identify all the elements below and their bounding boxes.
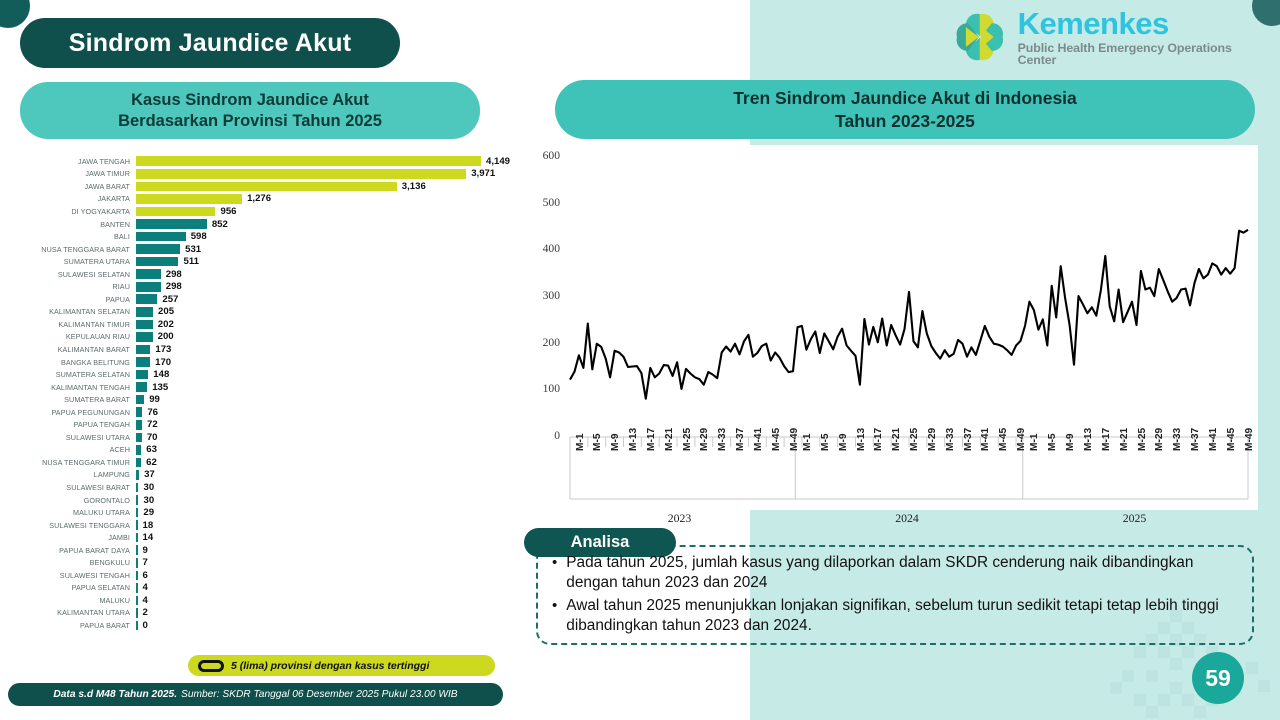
y-tick-label: 500 xyxy=(530,196,560,209)
x-tick-label: M-37 xyxy=(1190,428,1201,451)
trend-line-chart: 0100200300400500600M-1M-5M-9M-13M-17M-21… xyxy=(524,145,1258,510)
bar-value-label: 511 xyxy=(183,256,198,267)
bar-row: NUSA TENGGARA BARAT531 xyxy=(10,243,515,256)
bar-fill xyxy=(136,621,138,631)
bar-row: DI YOGYAKARTA956 xyxy=(10,205,515,218)
bar-category-label: JAWA TENGAH xyxy=(10,157,136,166)
bar-track: 14 xyxy=(136,531,515,544)
bar-row: KALIMANTAN TENGAH135 xyxy=(10,381,515,394)
x-tick-label: M-17 xyxy=(1101,428,1112,451)
bar-fill xyxy=(136,571,138,581)
bar-track: 4 xyxy=(136,594,515,607)
x-tick-label: M-29 xyxy=(1154,428,1165,451)
x-tick-label: M-45 xyxy=(998,428,1009,451)
bar-value-label: 29 xyxy=(143,507,154,518)
bar-track: 37 xyxy=(136,469,515,482)
bar-value-label: 30 xyxy=(143,482,154,493)
bar-fill xyxy=(136,320,153,330)
bar-value-label: 3,971 xyxy=(471,168,495,179)
line-chart-svg xyxy=(524,145,1258,510)
bar-row: SULAWESI UTARA70 xyxy=(10,431,515,444)
bar-fill xyxy=(136,207,215,217)
year-label: 2024 xyxy=(895,511,919,526)
bar-fill xyxy=(136,407,142,417)
footer-data-range: Data s.d M48 Tahun 2025. xyxy=(53,689,177,700)
legend-swatch-icon xyxy=(198,660,224,672)
bar-fill xyxy=(136,596,138,606)
bar-value-label: 173 xyxy=(155,344,171,355)
x-tick-label: M-25 xyxy=(1137,428,1148,451)
bar-fill xyxy=(136,495,138,505)
x-tick-label: M-33 xyxy=(1172,428,1183,451)
x-tick-label: M-13 xyxy=(628,428,639,451)
bar-category-label: NUSA TENGGARA TIMUR xyxy=(10,458,136,467)
bar-category-label: GORONTALO xyxy=(10,496,136,505)
kemenkes-logo: Kemenkes Public Health Emergency Operati… xyxy=(952,6,1272,68)
bar-fill xyxy=(136,483,138,493)
x-tick-label: M-17 xyxy=(873,428,884,451)
kemenkes-pinwheel-icon xyxy=(952,9,1010,65)
bar-category-label: NUSA TENGGARA BARAT xyxy=(10,245,136,254)
bar-track: 0 xyxy=(136,619,515,632)
bar-value-label: 4 xyxy=(143,582,148,593)
bar-row: KALIMANTAN UTARA2 xyxy=(10,607,515,620)
x-tick-label: M-9 xyxy=(838,433,849,451)
x-tick-label: M-1 xyxy=(575,433,586,451)
bar-track: 298 xyxy=(136,268,515,281)
bar-value-label: 202 xyxy=(158,319,174,330)
x-tick-label: M-29 xyxy=(927,428,938,451)
bar-fill xyxy=(136,445,141,455)
bar-fill xyxy=(136,232,186,242)
bar-fill xyxy=(136,219,207,229)
y-tick-label: 300 xyxy=(530,289,560,302)
bar-category-label: BALI xyxy=(10,232,136,241)
bar-row: ACEH63 xyxy=(10,444,515,457)
x-tick-label: M-33 xyxy=(945,428,956,451)
year-label: 2023 xyxy=(668,511,692,526)
bar-track: 76 xyxy=(136,406,515,419)
x-tick-label: M-5 xyxy=(820,433,831,451)
bar-fill xyxy=(136,244,180,254)
bullet-icon: • xyxy=(552,596,557,637)
bar-track: 148 xyxy=(136,368,515,381)
bar-category-label: MALUKU UTARA xyxy=(10,508,136,517)
bar-value-label: 598 xyxy=(191,231,207,242)
x-tick-label: M-49 xyxy=(789,428,800,451)
bar-fill xyxy=(136,282,161,292)
y-tick-label: 600 xyxy=(530,149,560,162)
bar-fill xyxy=(136,156,481,166)
x-tick-label: M-9 xyxy=(1065,433,1076,451)
bar-row: KALIMANTAN SELATAN205 xyxy=(10,306,515,319)
y-tick-label: 0 xyxy=(530,429,560,442)
left-header-line1: Kasus Sindrom Jaundice Akut xyxy=(131,90,369,111)
bar-value-label: 76 xyxy=(147,407,158,418)
bar-value-label: 18 xyxy=(143,520,154,531)
bar-row: KALIMANTAN BARAT173 xyxy=(10,343,515,356)
bar-value-label: 37 xyxy=(144,469,155,480)
x-tick-label: M-21 xyxy=(664,428,675,451)
bar-fill xyxy=(136,294,157,304)
bar-track: 30 xyxy=(136,494,515,507)
bar-track: 63 xyxy=(136,444,515,457)
bar-chart-legend: 5 (lima) provinsi dengan kasus tertinggi xyxy=(188,655,495,676)
x-tick-label: M-49 xyxy=(1244,428,1255,451)
x-tick-label: M-9 xyxy=(610,433,621,451)
bar-row: GORONTALO30 xyxy=(10,494,515,507)
bar-category-label: PAPUA TENGAH xyxy=(10,420,136,429)
x-tick-label: M-17 xyxy=(646,428,657,451)
bar-track: 6 xyxy=(136,569,515,582)
bar-value-label: 6 xyxy=(143,570,148,581)
bar-track: 1,276 xyxy=(136,193,515,206)
analisa-item-text: Pada tahun 2025, jumlah kasus yang dilap… xyxy=(566,553,1242,594)
bar-category-label: SULAWESI SELATAN xyxy=(10,270,136,279)
bar-track: 7 xyxy=(136,557,515,570)
bar-track: 598 xyxy=(136,230,515,243)
bar-row: BANGKA BELITUNG170 xyxy=(10,356,515,369)
bar-fill xyxy=(136,345,150,355)
province-bar-chart: JAWA TENGAH4,149JAWA TIMUR3,971JAWA BARA… xyxy=(10,155,515,655)
x-tick-label: M-5 xyxy=(1047,433,1058,451)
bar-row: BENGKULU7 xyxy=(10,557,515,570)
bar-value-label: 72 xyxy=(147,419,158,430)
x-tick-label: M-21 xyxy=(891,428,902,451)
bar-value-label: 4 xyxy=(143,595,148,606)
analisa-items: •Pada tahun 2025, jumlah kasus yang dila… xyxy=(552,553,1242,639)
bar-category-label: KALIMANTAN SELATAN xyxy=(10,307,136,316)
bar-category-label: JAWA TIMUR xyxy=(10,169,136,178)
bar-category-label: BANTEN xyxy=(10,220,136,229)
bar-track: 170 xyxy=(136,356,515,369)
x-tick-label: M-13 xyxy=(856,428,867,451)
x-tick-label: M-5 xyxy=(592,433,603,451)
x-tick-label: M-41 xyxy=(753,428,764,451)
bar-category-label: PAPUA PEGUNUNGAN xyxy=(10,408,136,417)
bar-row: SULAWESI TENGGARA18 xyxy=(10,519,515,532)
bar-fill xyxy=(136,307,153,317)
bar-value-label: 205 xyxy=(158,306,174,317)
bar-fill xyxy=(136,433,142,443)
bar-row: JAWA TENGAH4,149 xyxy=(10,155,515,168)
bar-value-label: 14 xyxy=(143,532,154,543)
bar-track: 511 xyxy=(136,255,515,268)
bar-row: SULAWESI TENGAH6 xyxy=(10,569,515,582)
bar-track: 62 xyxy=(136,456,515,469)
bar-row: BANTEN852 xyxy=(10,218,515,231)
bar-fill xyxy=(136,558,138,568)
bar-track: 956 xyxy=(136,205,515,218)
bar-category-label: SULAWESI UTARA xyxy=(10,433,136,442)
bar-value-label: 63 xyxy=(146,444,157,455)
bar-row: JAMBI14 xyxy=(10,531,515,544)
y-tick-label: 200 xyxy=(530,336,560,349)
bar-category-label: JAWA BARAT xyxy=(10,182,136,191)
bar-track: 298 xyxy=(136,280,515,293)
bar-track: 173 xyxy=(136,343,515,356)
bar-value-label: 0 xyxy=(143,620,148,631)
bar-category-label: SUMATERA SELATAN xyxy=(10,370,136,379)
x-tick-label: M-37 xyxy=(963,428,974,451)
slide-root: Sindrom Jaundice Akut Kemenkes Public He… xyxy=(0,0,1280,720)
bar-track: 18 xyxy=(136,519,515,532)
bar-track: 72 xyxy=(136,418,515,431)
right-header-line1: Tren Sindrom Jaundice Akut di Indonesia xyxy=(733,87,1077,109)
bar-category-label: SULAWESI TENGGARA xyxy=(10,521,136,530)
right-chart-header: Tren Sindrom Jaundice Akut di Indonesia … xyxy=(555,80,1255,139)
bar-row: RIAU298 xyxy=(10,280,515,293)
x-tick-label: M-1 xyxy=(1029,433,1040,451)
bar-value-label: 30 xyxy=(143,495,154,506)
bar-category-label: LAMPUNG xyxy=(10,470,136,479)
bar-value-label: 1,276 xyxy=(247,193,271,204)
right-header-line2: Tahun 2023-2025 xyxy=(835,110,975,132)
bar-category-label: DI YOGYAKARTA xyxy=(10,207,136,216)
bar-track: 99 xyxy=(136,393,515,406)
bar-value-label: 956 xyxy=(220,206,236,217)
bar-value-label: 148 xyxy=(153,369,169,380)
year-label: 2025 xyxy=(1123,511,1147,526)
bar-track: 852 xyxy=(136,218,515,231)
bar-category-label: SUMATERA UTARA xyxy=(10,257,136,266)
bar-value-label: 70 xyxy=(147,432,158,443)
bar-fill xyxy=(136,182,397,192)
bar-category-label: MALUKU xyxy=(10,596,136,605)
bar-row: SUMATERA BARAT99 xyxy=(10,393,515,406)
x-tick-label: M-1 xyxy=(802,433,813,451)
bar-track: 3,136 xyxy=(136,180,515,193)
x-tick-label: M-13 xyxy=(1083,428,1094,451)
bar-row: PAPUA PEGUNUNGAN76 xyxy=(10,406,515,419)
bar-value-label: 298 xyxy=(166,281,182,292)
analisa-item-text: Awal tahun 2025 menunjukkan lonjakan sig… xyxy=(566,596,1242,637)
bar-track: 70 xyxy=(136,431,515,444)
bar-row: PAPUA257 xyxy=(10,293,515,306)
bar-track: 29 xyxy=(136,506,515,519)
bar-fill xyxy=(136,332,153,342)
bar-row: JAKARTA1,276 xyxy=(10,193,515,206)
bar-value-label: 852 xyxy=(212,219,228,230)
legend-label: 5 (lima) provinsi dengan kasus tertinggi xyxy=(231,660,429,672)
bar-category-label: SULAWESI TENGAH xyxy=(10,571,136,580)
bar-value-label: 298 xyxy=(166,269,182,280)
bar-fill xyxy=(136,608,138,618)
footer-source: Sumber: SKDR Tanggal 06 Desember 2025 Pu… xyxy=(181,689,458,700)
bar-category-label: KALIMANTAN BARAT xyxy=(10,345,136,354)
bar-fill xyxy=(136,583,138,593)
bar-fill xyxy=(136,169,466,179)
y-tick-label: 100 xyxy=(530,382,560,395)
logo-title: Kemenkes xyxy=(1018,8,1272,39)
bar-value-label: 200 xyxy=(158,331,174,342)
bar-track: 257 xyxy=(136,293,515,306)
corner-circle-top-left xyxy=(0,0,30,28)
bar-value-label: 531 xyxy=(185,244,201,255)
x-tick-label: M-21 xyxy=(1119,428,1130,451)
bar-row: KEPULAUAN RIAU200 xyxy=(10,331,515,344)
bar-fill xyxy=(136,257,178,267)
bar-category-label: SULAWESI BARAT xyxy=(10,483,136,492)
bar-category-label: ACEH xyxy=(10,445,136,454)
analisa-item: •Pada tahun 2025, jumlah kasus yang dila… xyxy=(552,553,1242,594)
bar-row: SULAWESI BARAT30 xyxy=(10,481,515,494)
bar-fill xyxy=(136,458,141,468)
bar-row: PAPUA SELATAN4 xyxy=(10,582,515,595)
bar-value-label: 7 xyxy=(143,557,148,568)
source-footer: Data s.d M48 Tahun 2025. Sumber: SKDR Ta… xyxy=(8,683,503,706)
bar-track: 531 xyxy=(136,243,515,256)
x-tick-label: M-25 xyxy=(909,428,920,451)
bar-track: 3,971 xyxy=(136,168,515,181)
bar-category-label: PAPUA BARAT DAYA xyxy=(10,546,136,555)
bar-value-label: 135 xyxy=(152,382,168,393)
bar-row: PAPUA BARAT DAYA9 xyxy=(10,544,515,557)
bar-category-label: BANGKA BELITUNG xyxy=(10,358,136,367)
trend-line xyxy=(570,230,1248,399)
left-header-line2: Berdasarkan Provinsi Tahun 2025 xyxy=(118,111,382,132)
bar-category-label: SUMATERA BARAT xyxy=(10,395,136,404)
x-tick-label: M-25 xyxy=(682,428,693,451)
x-tick-label: M-41 xyxy=(980,428,991,451)
x-tick-label: M-37 xyxy=(735,428,746,451)
bar-track: 2 xyxy=(136,607,515,620)
bar-row: SULAWESI SELATAN298 xyxy=(10,268,515,281)
bar-value-label: 62 xyxy=(146,457,157,468)
x-tick-label: M-45 xyxy=(771,428,782,451)
bar-category-label: KALIMANTAN TENGAH xyxy=(10,383,136,392)
bar-row: MALUKU UTARA29 xyxy=(10,506,515,519)
bar-track: 202 xyxy=(136,318,515,331)
bar-value-label: 2 xyxy=(143,607,148,618)
bar-fill xyxy=(136,470,139,480)
bar-fill xyxy=(136,508,138,518)
bar-track: 9 xyxy=(136,544,515,557)
bar-value-label: 3,136 xyxy=(402,181,426,192)
bar-fill xyxy=(136,269,161,279)
bar-fill xyxy=(136,357,150,367)
x-tick-label: M-45 xyxy=(1226,428,1237,451)
bullet-icon: • xyxy=(552,553,557,594)
bar-category-label: RIAU xyxy=(10,282,136,291)
bar-category-label: PAPUA xyxy=(10,295,136,304)
bar-fill xyxy=(136,545,138,555)
bar-value-label: 257 xyxy=(162,294,178,305)
bar-row: KALIMANTAN TIMUR202 xyxy=(10,318,515,331)
bar-category-label: KEPULAUAN RIAU xyxy=(10,332,136,341)
bar-fill xyxy=(136,533,138,543)
bar-row: PAPUA TENGAH72 xyxy=(10,418,515,431)
bar-track: 135 xyxy=(136,381,515,394)
bar-category-label: KALIMANTAN TIMUR xyxy=(10,320,136,329)
bar-row: SUMATERA UTARA511 xyxy=(10,255,515,268)
bar-category-label: PAPUA SELATAN xyxy=(10,583,136,592)
bar-category-label: JAKARTA xyxy=(10,194,136,203)
bar-category-label: BENGKULU xyxy=(10,558,136,567)
bar-value-label: 9 xyxy=(143,545,148,556)
x-tick-label: M-33 xyxy=(717,428,728,451)
left-chart-header: Kasus Sindrom Jaundice Akut Berdasarkan … xyxy=(20,82,480,139)
bar-value-label: 99 xyxy=(149,394,160,405)
bar-track: 205 xyxy=(136,306,515,319)
page-number-badge: 59 xyxy=(1192,652,1244,704)
bar-value-label: 4,149 xyxy=(486,156,510,167)
bar-category-label: KALIMANTAN UTARA xyxy=(10,608,136,617)
bar-fill xyxy=(136,370,148,380)
x-tick-label: M-41 xyxy=(1208,428,1219,451)
bar-category-label: JAMBI xyxy=(10,533,136,542)
bar-row: SUMATERA SELATAN148 xyxy=(10,368,515,381)
bar-fill xyxy=(136,395,144,405)
bar-value-label: 170 xyxy=(155,357,171,368)
bar-row: JAWA BARAT3,136 xyxy=(10,180,515,193)
slide-title: Sindrom Jaundice Akut xyxy=(20,18,400,68)
x-tick-label: M-29 xyxy=(699,428,710,451)
bar-row: LAMPUNG37 xyxy=(10,469,515,482)
x-tick-label: M-49 xyxy=(1016,428,1027,451)
bar-row: JAWA TIMUR3,971 xyxy=(10,168,515,181)
bar-track: 200 xyxy=(136,331,515,344)
bar-row: NUSA TENGGARA TIMUR62 xyxy=(10,456,515,469)
y-tick-label: 400 xyxy=(530,242,560,255)
bar-track: 30 xyxy=(136,481,515,494)
bar-row: MALUKU4 xyxy=(10,594,515,607)
bar-track: 4 xyxy=(136,582,515,595)
bar-fill xyxy=(136,420,142,430)
bar-row: PAPUA BARAT0 xyxy=(10,619,515,632)
analisa-item: •Awal tahun 2025 menunjukkan lonjakan si… xyxy=(552,596,1242,637)
bar-category-label: PAPUA BARAT xyxy=(10,621,136,630)
bar-fill xyxy=(136,382,147,392)
bar-row: BALI598 xyxy=(10,230,515,243)
bar-track: 4,149 xyxy=(136,155,515,168)
logo-subtitle: Public Health Emergency Operations Cente… xyxy=(1018,42,1272,67)
bar-fill xyxy=(136,194,242,204)
bar-fill xyxy=(136,520,138,530)
